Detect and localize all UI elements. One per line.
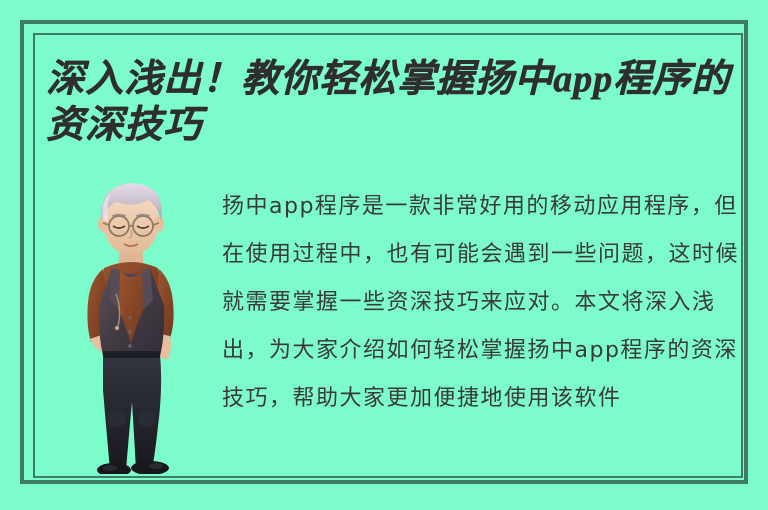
standing-man-illustration — [70, 176, 192, 474]
page-title: 深入浅出！教你轻松掌握扬中app程序的资深技巧 — [46, 56, 752, 148]
article-body: 扬中app程序是一款非常好用的移动应用程序，但在使用过程中，也有可能会遇到一些问… — [222, 183, 754, 423]
poster-canvas: 深入浅出！教你轻松掌握扬中app程序的资深技巧 — [0, 0, 768, 510]
